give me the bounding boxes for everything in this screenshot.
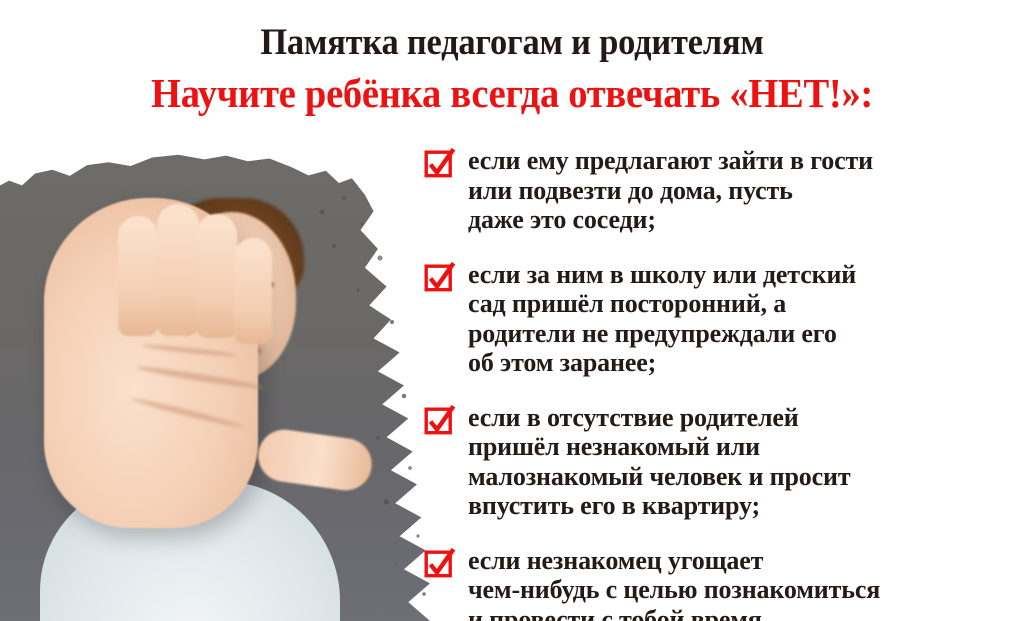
list-item-label: если ему предлагают зайти в гости или по… [468, 146, 873, 235]
boy-raised-palm [44, 198, 258, 528]
safety-memo-poster: Памятка педагогам и родителям Научите ре… [0, 0, 1024, 621]
advice-checklist: если ему предлагают зайти в гости или по… [424, 146, 1024, 621]
finger-little [234, 238, 272, 344]
finger-ring [196, 214, 237, 338]
poster-heading-block: Памятка педагогам и родителям Научите ре… [0, 0, 1024, 116]
palm-crease-upper [142, 343, 238, 358]
list-item: если в отсутствие родителей пришёл незна… [424, 403, 1024, 521]
list-item: если за ним в школу или детский сад приш… [424, 260, 1024, 378]
finger-index [118, 216, 158, 336]
list-item-label: если в отсутствие родителей пришёл незна… [468, 403, 850, 521]
list-item-label: если незнакомец угощает чем-нибудь с цел… [468, 546, 880, 621]
stop-hand-photo [0, 150, 430, 621]
checked-checkbox-icon [424, 262, 454, 292]
checked-checkbox-icon [424, 148, 454, 178]
checked-checkbox-icon [424, 548, 454, 578]
list-item-label: если за ним в школу или детский сад приш… [468, 260, 856, 378]
palm-crease-middle [136, 364, 264, 391]
page-subtitle: Научите ребёнка всегда отвечать «НЕТ!»: [31, 64, 994, 116]
list-item: если незнакомец угощает чем-нибудь с цел… [424, 546, 1024, 621]
page-title: Памятка педагогам и родителям [36, 0, 988, 64]
finger-middle [157, 204, 199, 336]
list-item: если ему предлагают зайти в гости или по… [424, 146, 1024, 235]
checked-checkbox-icon [424, 405, 454, 435]
palm-crease-lower [131, 396, 245, 430]
